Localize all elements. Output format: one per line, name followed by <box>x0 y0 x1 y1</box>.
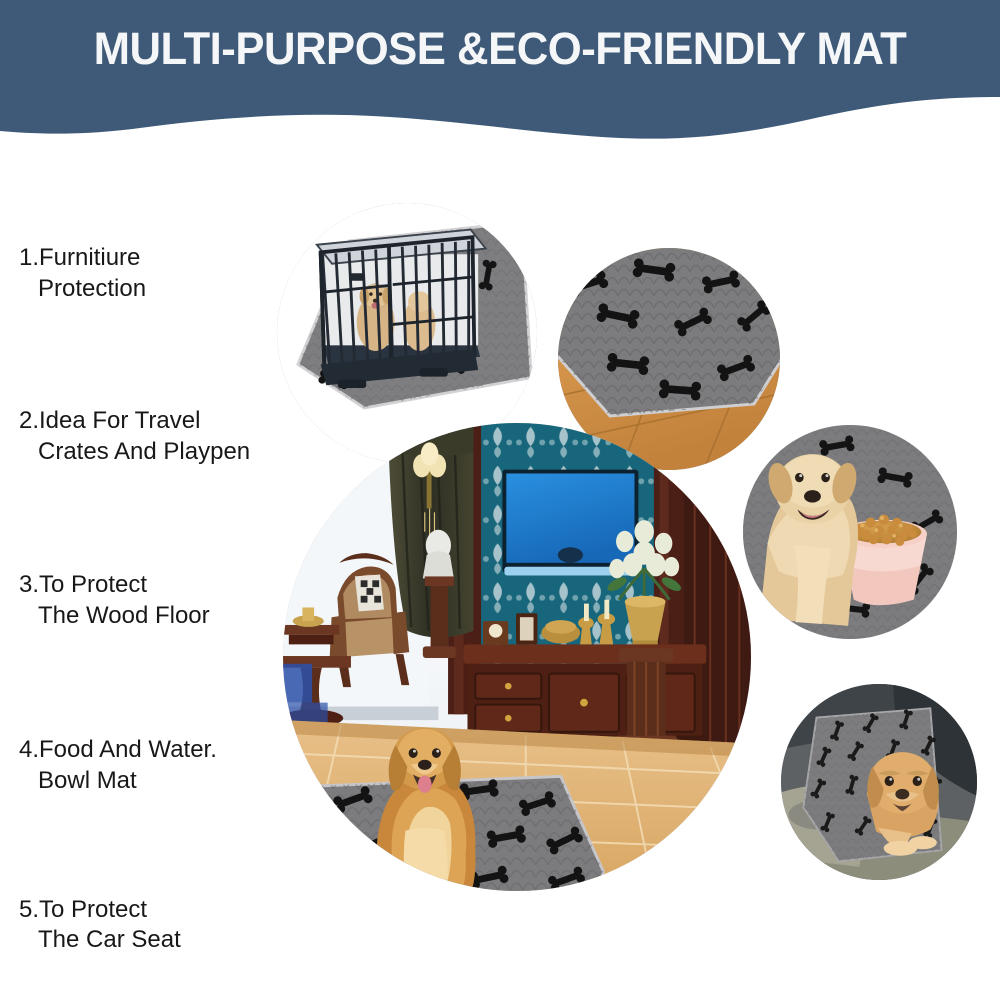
feature-line-1: 5.To Protect <box>0 895 280 926</box>
feature-line-1: 1.Furnitiure <box>0 243 280 274</box>
list-item: 3.To Protect The Wood Floor <box>0 570 280 631</box>
car-seat-scene <box>781 684 977 880</box>
feature-line-2: Crates And Playpen <box>0 437 280 468</box>
page-title: MULTI-PURPOSE &ECO-FRIENDLY MAT <box>15 23 985 75</box>
feature-line-2: Bowl Mat <box>0 766 280 797</box>
feature-line-2: The Car Seat <box>0 925 280 956</box>
food-bowl-scene <box>743 425 957 639</box>
feature-line-1: 3.To Protect <box>0 570 280 601</box>
feature-line-1: 2.Idea For Travel <box>0 406 280 437</box>
puppy-on-car-seat-mat-photo: Mastiff puppy sitting on the gray bone-p… <box>781 684 977 880</box>
header-banner: MULTI-PURPOSE &ECO-FRIENDLY MAT <box>0 0 1000 150</box>
dog-food-bowl-on-mat-photo: Golden retriever beside a pink bowl full… <box>743 425 957 639</box>
living-room-scene <box>283 423 751 891</box>
feature-list: 1.Furnitiure Protection 2.Idea For Trave… <box>0 243 280 984</box>
list-item: 1.Furnitiure Protection <box>0 243 280 304</box>
list-item: 4.Food And Water. Bowl Mat <box>0 735 280 796</box>
feature-line-1: 4.Food And Water. <box>0 735 280 766</box>
feature-line-2: Protection <box>0 274 280 305</box>
list-item: 5.To Protect The Car Seat <box>0 895 280 956</box>
feature-line-2: The Wood Floor <box>0 601 280 632</box>
list-item: 2.Idea For Travel Crates And Playpen <box>0 406 280 467</box>
living-room-dog-on-mat-photo: Golden retriever lying on the gray bone-… <box>283 423 751 891</box>
